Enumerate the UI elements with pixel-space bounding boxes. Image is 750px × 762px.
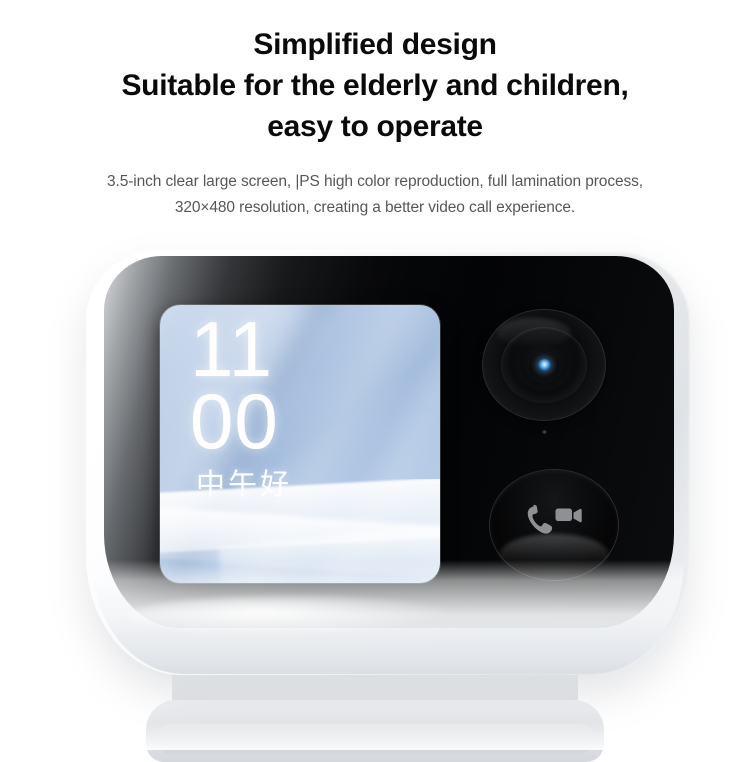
camera-lens-glint — [538, 359, 551, 371]
clock-hours: 11 — [190, 313, 279, 385]
greeting-text: 中午好 — [196, 461, 292, 503]
product-photo: 11 00 中午好 — [0, 0, 750, 750]
device-body-chin-highlight — [128, 596, 458, 636]
device-screen[interactable]: 11 00 中午好 — [160, 305, 440, 583]
camera-lens — [483, 310, 605, 420]
light-sensor-icon — [542, 430, 547, 434]
wallpaper-streak — [280, 305, 440, 583]
clock-display: 11 00 — [190, 313, 279, 457]
phone-video-icon — [523, 498, 585, 549]
clock-minutes: 00 — [190, 385, 279, 457]
